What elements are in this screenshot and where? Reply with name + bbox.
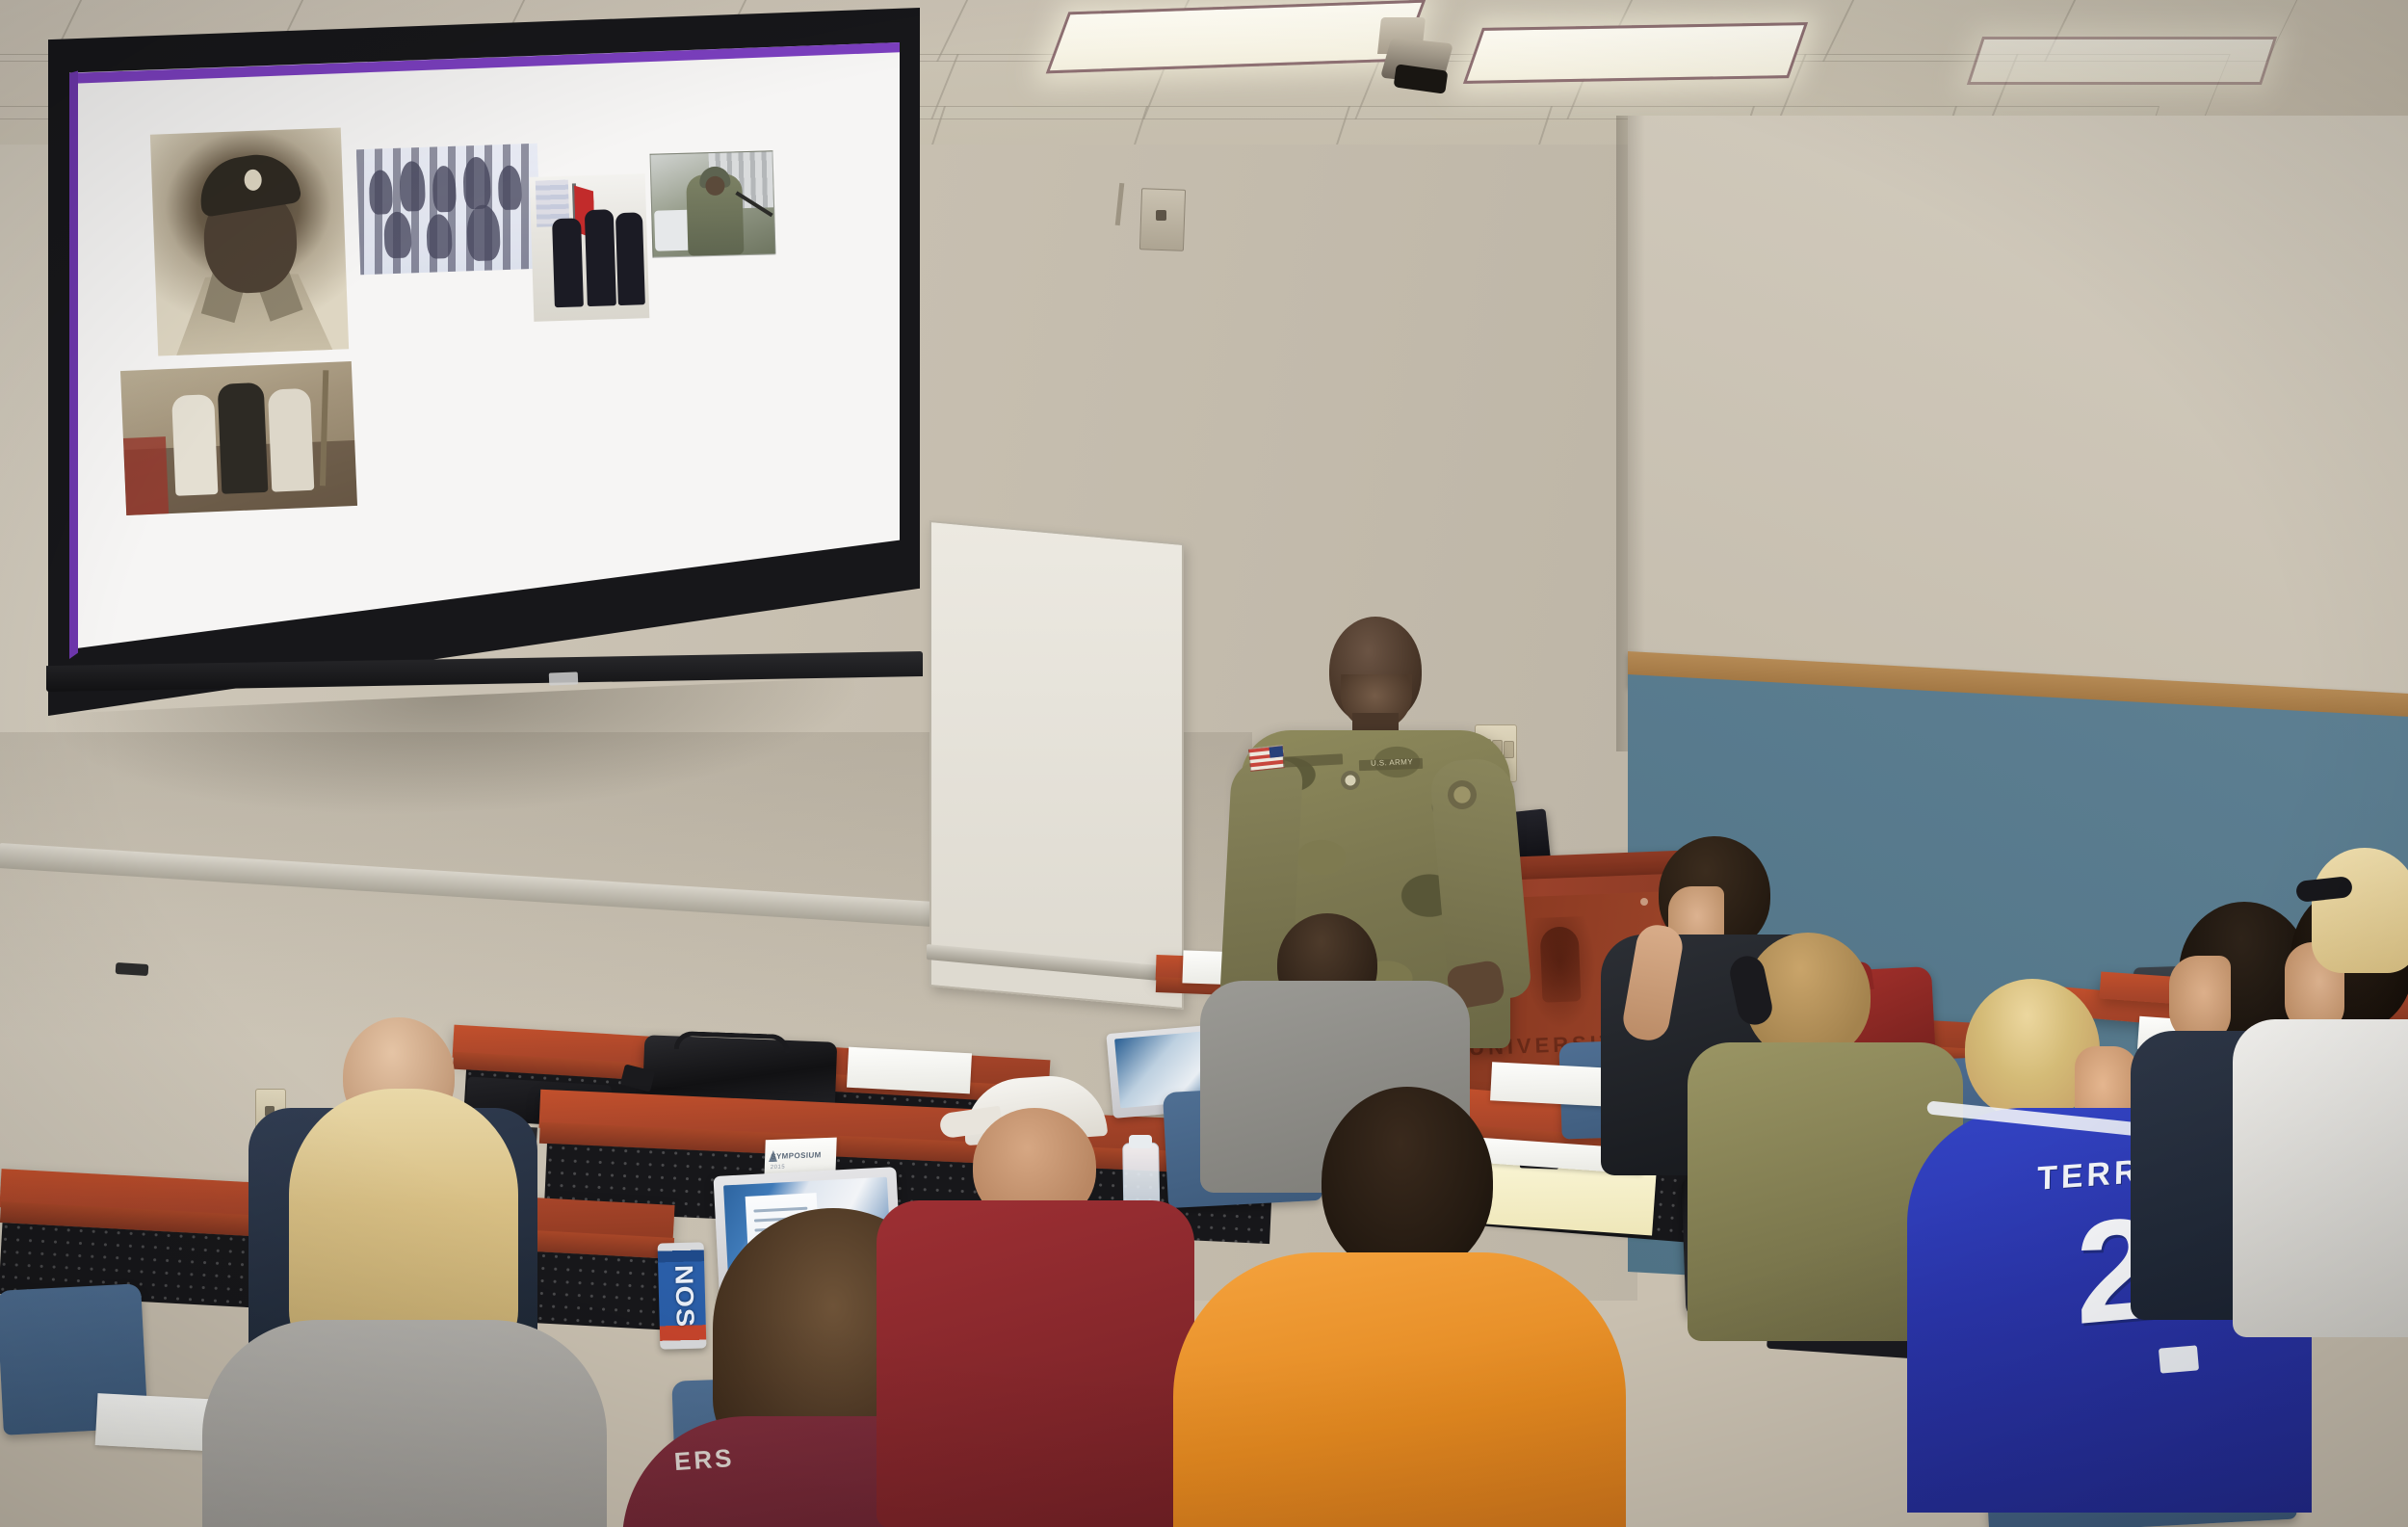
classroom-scene: UNIVERSITY U.S. ARMY SYMPOSIUM 2 — [0, 0, 2408, 1527]
ceiling-light-panel — [1967, 37, 2277, 85]
student-torso — [202, 1320, 607, 1527]
student-torso — [1173, 1252, 1626, 1527]
light-switch-toggle[interactable] — [1504, 741, 1514, 758]
slide-photo-award-ceremony — [120, 361, 357, 515]
flag-canton — [1269, 746, 1283, 757]
slide-photo-historic-group — [356, 144, 541, 275]
wall-speaker-dot — [1156, 210, 1166, 221]
slide-photo-ceremony-color-guard — [530, 173, 650, 322]
slide-photo-deployed-soldier — [650, 150, 776, 258]
screen-brand-logo — [549, 671, 579, 685]
tent-card-line1: SYMPOSIUM — [771, 1150, 834, 1161]
side-wall-upper — [1628, 116, 2408, 732]
student-torso — [2233, 1019, 2408, 1337]
energy-drink-brand-text: NOS — [664, 1265, 700, 1330]
ceiling-light-panel — [1463, 22, 1808, 84]
tent-card-line2: 2015 — [771, 1163, 834, 1171]
loose-papers — [847, 1047, 972, 1094]
student-hair — [2312, 848, 2408, 973]
student-head — [1322, 1087, 1493, 1276]
whiteboard-marker[interactable] — [116, 962, 149, 976]
crest-figure — [1540, 926, 1582, 1002]
slide-photo-portrait-young-soldier — [150, 127, 349, 355]
bottle-cap — [1129, 1135, 1152, 1148]
whiteboard[interactable] — [929, 520, 1184, 1010]
projection-screen[interactable] — [48, 8, 920, 740]
jersey-league-badge-icon — [2159, 1345, 2199, 1373]
student-torso — [877, 1200, 1194, 1527]
slide-edge-highlight — [69, 42, 78, 659]
lectern-fastener — [1640, 898, 1648, 906]
hoodie-back-text: ERS — [673, 1443, 735, 1477]
